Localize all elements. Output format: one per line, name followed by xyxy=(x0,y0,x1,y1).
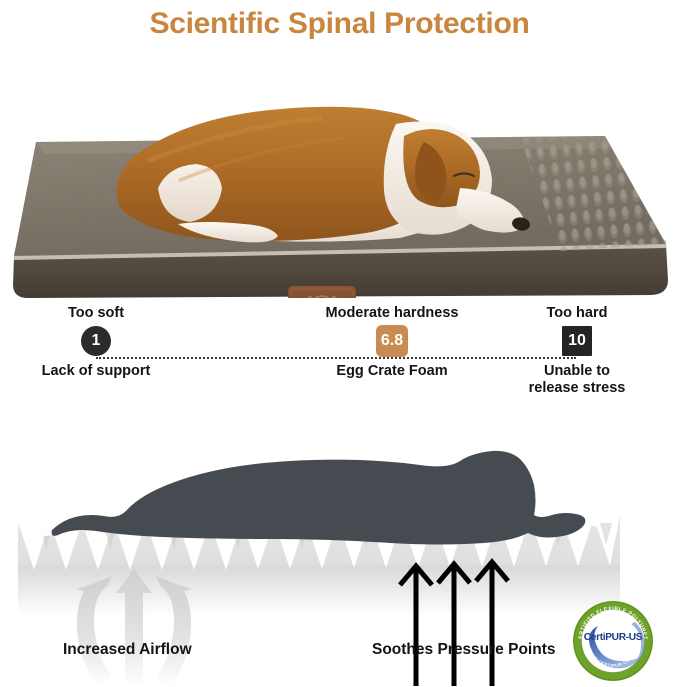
page-header: Scientific Spinal Protection xyxy=(0,0,679,48)
hardness-stop-bottom-line-1: Unable to xyxy=(492,363,662,380)
dog-silhouette xyxy=(52,451,586,545)
hardness-stop-too-soft: Too soft 1 Lack of support xyxy=(11,305,181,380)
hardness-scale: Too soft 1 Lack of support Moderate hard… xyxy=(0,305,679,410)
caption-increased-airflow: Increased Airflow xyxy=(63,641,192,659)
hardness-stop-too-hard: Too hard 10 Unable to release stress xyxy=(492,305,662,397)
hardness-badge-10: 10 xyxy=(562,326,592,356)
certipur-us-badge: CertiPUR-US CONTAINS CERTIFIED FLEXIBLE … xyxy=(572,600,654,682)
page-title: Scientific Spinal Protection xyxy=(149,7,529,41)
hardness-badge-1: 1 xyxy=(81,326,111,356)
hardness-badge-6-8: 6.8 xyxy=(376,325,408,357)
hardness-badge-wrap: 1 xyxy=(11,325,181,357)
hardness-stop-top-label: Too hard xyxy=(492,305,662,322)
hardness-stop-moderate: Moderate hardness 6.8 Egg Crate Foam xyxy=(307,305,477,380)
brand-tag: Woofsee xyxy=(288,286,356,298)
product-photo: Woofsee xyxy=(0,48,679,298)
hardness-stop-bottom-label: Unable to release stress xyxy=(492,363,662,397)
hardness-stop-top-label: Too soft xyxy=(11,305,181,322)
caption-soothes-pressure-points: Soothes Pressure Points xyxy=(372,641,555,659)
hardness-badge-wrap: 6.8 xyxy=(307,325,477,357)
hardness-stop-bottom-label: Lack of support xyxy=(11,363,181,380)
hardness-badge-wrap: 10 xyxy=(492,325,662,357)
certipur-center-text: CertiPUR-US xyxy=(584,632,643,643)
hardness-stop-bottom-label: Egg Crate Foam xyxy=(307,363,477,380)
dog-bed-illustration: Woofsee xyxy=(0,48,679,298)
certipur-badge-svg: CertiPUR-US CONTAINS CERTIFIED FLEXIBLE … xyxy=(572,600,654,682)
hardness-stop-bottom-line-2: release stress xyxy=(492,380,662,397)
hardness-stop-top-label: Moderate hardness xyxy=(307,305,477,322)
